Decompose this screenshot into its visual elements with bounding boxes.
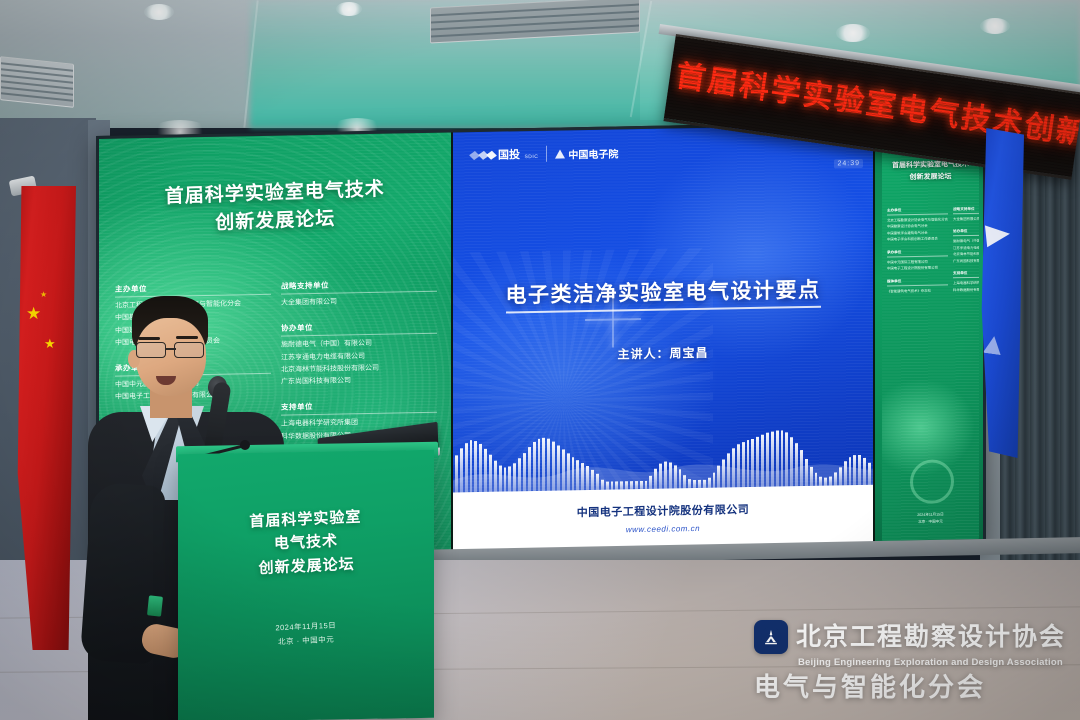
waveform-bar bbox=[528, 447, 531, 493]
ceiling-downlight-2 bbox=[336, 2, 362, 16]
poster-block: 战略支持单位 大全集团有限公司 bbox=[281, 278, 437, 310]
right-poster-columns: 主办单位 北京工程勘察设计协会电气与智能化分会 中国勘察设计协会电气分会 中国建… bbox=[887, 207, 974, 302]
sdic-diamond-icon bbox=[471, 151, 495, 158]
podium-lectern: 首届科学实验室 电气技术 创新发展论坛 2024年11月15日 北京 · 中国中… bbox=[178, 450, 434, 720]
slide-logo-row: 国投 SDIC 中国电子院 bbox=[471, 143, 618, 164]
waveform-bar bbox=[581, 463, 584, 492]
poster-block: 战略支持单位 大全集团有限公司 bbox=[953, 206, 979, 222]
glasses-lens-left bbox=[136, 342, 166, 358]
waveform-bar bbox=[722, 459, 725, 489]
slide-footer-url: www.ceedi.com.cn bbox=[453, 521, 873, 538]
waveform-bar bbox=[533, 442, 536, 493]
waveform-bar bbox=[747, 440, 750, 489]
waveform-bar bbox=[669, 462, 672, 491]
waveform-bar bbox=[513, 464, 516, 494]
waveform-bar bbox=[844, 462, 847, 488]
waveform-bar bbox=[470, 440, 473, 494]
poster-block-heading: 支持单位 bbox=[953, 271, 979, 279]
poster-block: 媒体单位 《智能建筑电气技术》杂志社 bbox=[887, 278, 948, 295]
waveform-bar bbox=[732, 448, 735, 489]
flag-triangle-icon bbox=[983, 335, 1003, 355]
association-emblem-svg bbox=[760, 626, 782, 648]
poster-item: 《智能建筑电气技术》杂志社 bbox=[887, 287, 948, 295]
poster-block-heading: 协办单位 bbox=[281, 320, 437, 337]
flag-star-small: ★ bbox=[44, 336, 56, 352]
waveform-bar bbox=[785, 433, 788, 489]
podium-title: 首届科学实验室 电气技术 创新发展论坛 bbox=[177, 502, 435, 583]
poster-block: 协办单位 施耐德电气（中国）有限公司 江苏亨通电力电缆有限公司 北京海林节能科技… bbox=[953, 229, 979, 265]
waveform-bar bbox=[523, 453, 526, 493]
waveform-bar bbox=[737, 444, 740, 489]
waveform-bar bbox=[751, 439, 754, 489]
waveform-bar bbox=[474, 441, 477, 494]
waveform-bar bbox=[552, 442, 555, 493]
waveform-bar bbox=[455, 455, 458, 494]
slide-waveform-bars bbox=[453, 415, 873, 495]
speaker-eyebrow-left bbox=[138, 337, 160, 340]
waveform-bar bbox=[717, 466, 720, 490]
watermark-association-en: Beijing Engineering Exploration and Desi… bbox=[798, 657, 1066, 668]
poster-block: 协办单位 施耐德电气（中国）有限公司 江苏亨通电力电缆有限公司 北京海林节能科技… bbox=[281, 320, 437, 389]
waveform-bar bbox=[853, 455, 856, 487]
slide-timer-badge: 24:39 bbox=[834, 159, 863, 169]
slide-footer-org: 中国电子工程设计院股份有限公司 bbox=[453, 485, 873, 523]
right-poster-column-2: 战略支持单位 大全集团有限公司 协办单位 施耐德电气（中国）有限公司 江苏亨通电… bbox=[953, 206, 979, 300]
waveform-bar bbox=[479, 444, 482, 494]
glasses-bridge bbox=[166, 348, 176, 350]
poster-item: 大全集团有限公司 bbox=[281, 295, 437, 310]
poster-block: 主办单位 北京工程勘察设计协会电气与智能化分会 中国勘察设计协会电气分会 中国建… bbox=[887, 207, 948, 243]
flag-star-small: ★ bbox=[40, 290, 47, 299]
mic-stand-head bbox=[240, 440, 250, 450]
association-logo-icon bbox=[754, 620, 788, 654]
ceiling-downlight-1 bbox=[144, 4, 174, 20]
flag-star-large: ★ bbox=[26, 304, 41, 324]
logo-divider bbox=[546, 146, 547, 162]
waveform-bar bbox=[727, 453, 730, 489]
glasses-lens-right bbox=[174, 342, 204, 358]
led-panel-presentation-slide: 国投 SDIC 中国电子院 24:39 电子类洁净实验室电气设计要点 主讲人：周… bbox=[453, 125, 873, 555]
waveform-bar bbox=[849, 457, 852, 487]
waveform-bar bbox=[504, 467, 507, 493]
slide-title: 电子类洁净实验室电气设计要点 bbox=[453, 273, 873, 311]
poster-block-heading: 主办单位 bbox=[887, 207, 948, 215]
waveform-bar bbox=[868, 463, 871, 487]
poster-item: 科华数据股份有限公司 bbox=[953, 286, 979, 293]
waveform-bar bbox=[586, 466, 589, 492]
waveform-bar bbox=[795, 443, 798, 488]
watermark-branch-cn: 电气与智能化分会 bbox=[754, 673, 1066, 702]
waveform-bar bbox=[674, 465, 677, 491]
waveform-bar bbox=[810, 466, 813, 487]
waveform-bar bbox=[542, 438, 545, 493]
flag-arrow-icon bbox=[985, 223, 1011, 247]
waveform-bar bbox=[761, 435, 764, 489]
watermark-row-primary: 北京工程勘察设计协会 bbox=[754, 620, 1066, 654]
waveform-bar bbox=[538, 439, 541, 493]
poster-item: 大全集团有限公司 bbox=[953, 215, 979, 222]
ceiling-downlight-4 bbox=[980, 18, 1010, 34]
poster-item: 中国电子学会科技创新工作委员会 bbox=[887, 236, 948, 244]
waveform-bar bbox=[562, 450, 565, 493]
waveform-bar bbox=[489, 455, 492, 494]
sdic-logo-text: 国投 SDIC bbox=[498, 145, 538, 164]
poster-block-heading: 支持单位 bbox=[281, 399, 437, 416]
waveform-bar bbox=[484, 449, 487, 494]
waveform-bar bbox=[508, 467, 511, 494]
waveform-bar bbox=[756, 437, 759, 489]
air-vent-left bbox=[0, 56, 74, 108]
slide-waveform-graphic bbox=[453, 415, 873, 495]
poster-block: 承办单位 中国中元国际工程有限公司 中国电子工程设计院股份有限公司 bbox=[887, 249, 948, 272]
waveform-bar bbox=[591, 470, 594, 492]
waveform-bar bbox=[494, 461, 497, 494]
sdic-logo: 国投 SDIC bbox=[471, 145, 538, 164]
poster-item: 广东尚国科技有限公司 bbox=[281, 374, 437, 389]
waveform-bar bbox=[659, 464, 662, 491]
waveform-bar bbox=[572, 457, 575, 492]
right-poster-title-line2: 创新发展论坛 bbox=[886, 171, 975, 185]
waveform-bar bbox=[460, 448, 463, 494]
waveform-bar bbox=[518, 459, 521, 494]
sdic-logo-en: SDIC bbox=[524, 154, 538, 160]
poster-block-heading: 战略支持单位 bbox=[281, 278, 437, 295]
photo-scene: 首届科学实验室电气技术 创新发展论坛 主办单位 北京工程勘察设计协会电气与智能化… bbox=[0, 0, 1080, 720]
waveform-bar bbox=[465, 443, 468, 495]
right-poster-column-1: 主办单位 北京工程勘察设计协会电气与智能化分会 中国勘察设计协会电气分会 中国建… bbox=[887, 207, 948, 301]
ceedi-logo: 中国电子院 bbox=[555, 145, 618, 161]
waveform-bar bbox=[679, 469, 682, 490]
waveform-bar bbox=[766, 433, 769, 489]
waveform-bar bbox=[858, 455, 861, 487]
speaker-eyebrow-right bbox=[176, 336, 198, 339]
led-panel-right-poster: 首届科学实验室电气技术 创新发展论坛 主办单位 北京工程勘察设计协会电气与智能化… bbox=[875, 123, 983, 547]
waveform-bar bbox=[776, 430, 779, 488]
waveform-bar bbox=[800, 450, 803, 488]
waveform-bar bbox=[771, 431, 774, 488]
ceedi-triangle-icon bbox=[555, 149, 565, 158]
slide-title-text: 电子类洁净实验室电气设计要点 bbox=[506, 279, 821, 314]
poster-block-heading: 承办单位 bbox=[887, 249, 948, 257]
speaker-glasses bbox=[134, 342, 208, 359]
sdic-logo-cn: 国投 bbox=[498, 149, 520, 161]
watermark-overlay: 北京工程勘察设计协会 Beijing Engineering Explorati… bbox=[754, 620, 1066, 702]
right-poster-inner: 首届科学实验室电气技术 创新发展论坛 主办单位 北京工程勘察设计协会电气与智能化… bbox=[882, 137, 979, 541]
waveform-bar bbox=[742, 442, 745, 489]
poster-item: 中国电子工程设计院股份有限公司 bbox=[887, 265, 948, 273]
waveform-bar bbox=[547, 439, 550, 493]
ceedi-logo-text: 中国电子院 bbox=[568, 145, 618, 161]
watermark-association-cn: 北京工程勘察设计协会 bbox=[796, 625, 1066, 650]
waveform-bar bbox=[863, 458, 866, 487]
waveform-bar bbox=[790, 437, 793, 489]
waveform-bar bbox=[567, 454, 570, 493]
waveform-bar bbox=[664, 461, 667, 490]
waveform-bar bbox=[576, 460, 579, 492]
poster-block-heading: 协办单位 bbox=[953, 229, 979, 237]
poster-block-heading: 媒体单位 bbox=[887, 278, 948, 286]
waveform-bar bbox=[557, 446, 560, 493]
podium-date-block: 2024年11月15日 北京 · 中国中元 bbox=[178, 614, 435, 654]
waveform-bar bbox=[654, 469, 657, 491]
poster-block-heading: 战略支持单位 bbox=[953, 206, 979, 214]
speaker-lanyard-badge bbox=[147, 595, 163, 616]
waveform-bar bbox=[499, 465, 502, 494]
ceiling-downlight-3 bbox=[836, 24, 870, 42]
poster-block: 支持单位 上海电器科学研究所集团 科华数据股份有限公司 bbox=[953, 271, 979, 294]
poster-item: 广东尚国科技有限公司 bbox=[953, 257, 979, 264]
right-poster-footer: 2024年11月15日 北京 · 中国中元 bbox=[882, 511, 979, 526]
waveform-bar bbox=[805, 459, 808, 488]
waveform-bar bbox=[781, 430, 784, 488]
